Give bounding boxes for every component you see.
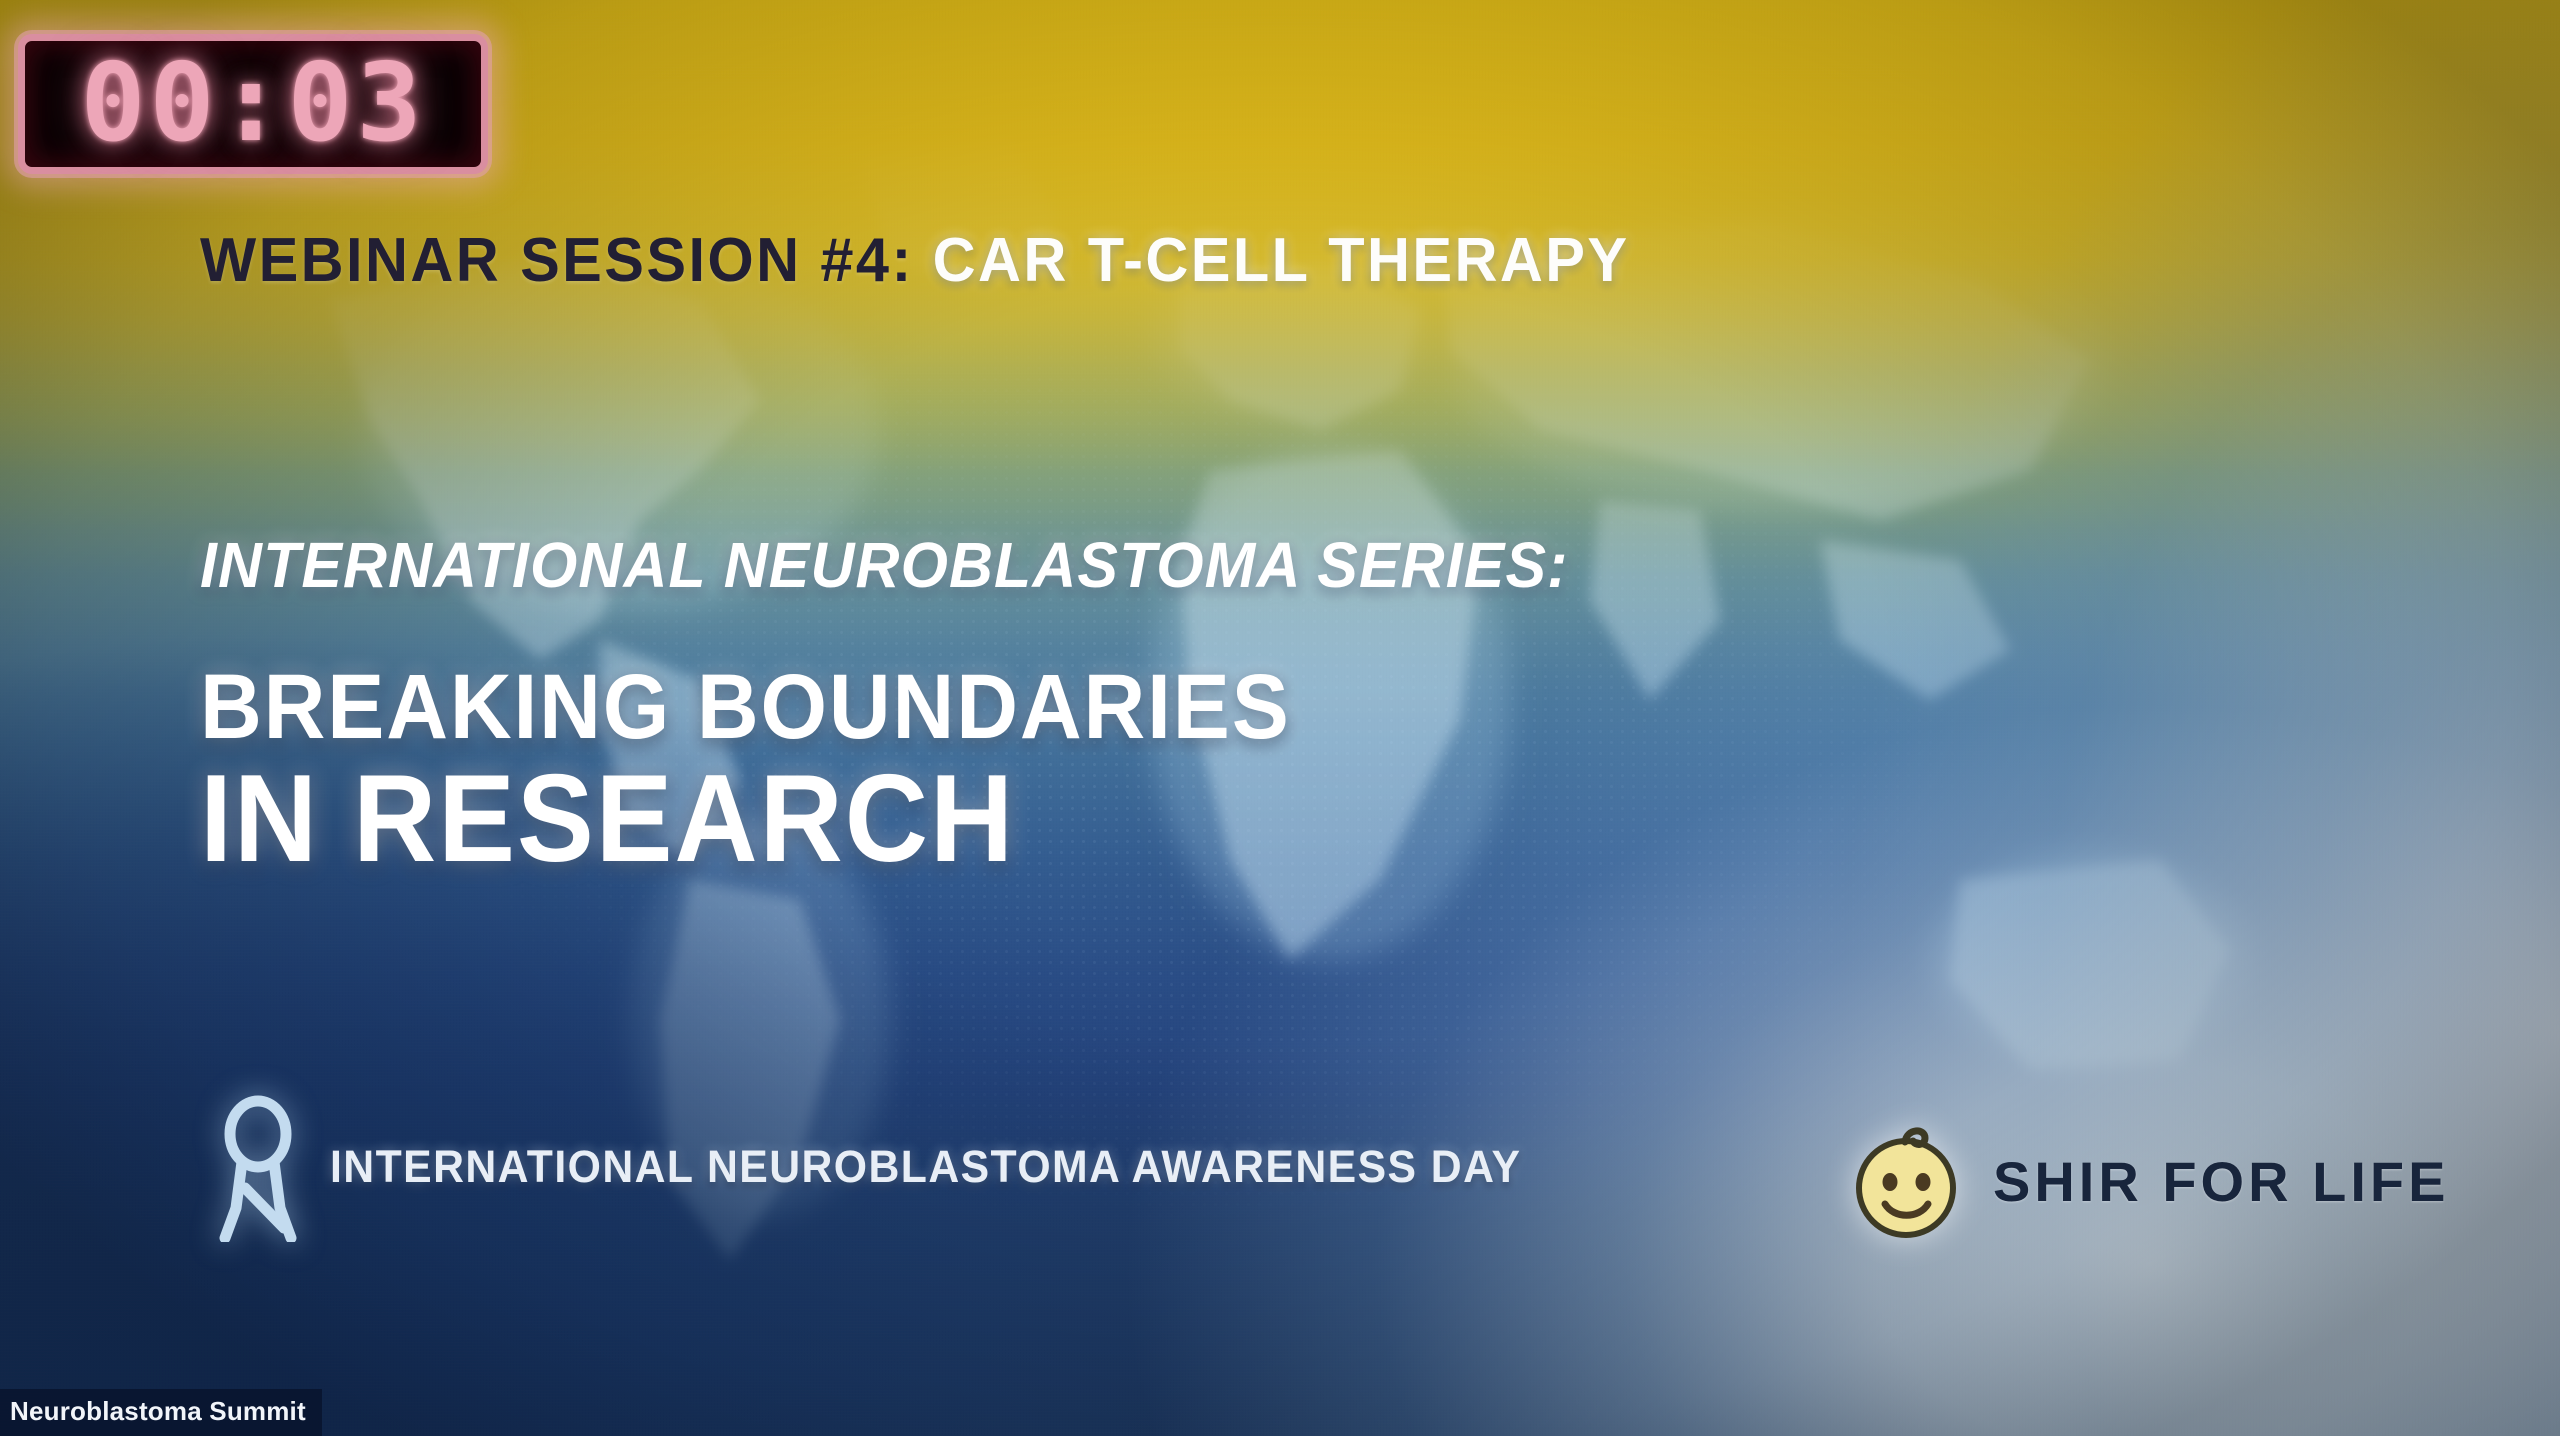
awareness-ribbon-icon — [212, 1092, 304, 1242]
awareness-day-label: INTERNATIONAL NEUROBLASTOMA AWARENESS DA… — [330, 1141, 1521, 1193]
headline-line-two: IN RESEARCH — [200, 748, 1015, 890]
baby-smiley-face-icon — [1845, 1118, 1967, 1244]
series-title: INTERNATIONAL NEUROBLASTOMA SERIES: — [200, 528, 1569, 602]
awareness-day-logo: INTERNATIONAL NEUROBLASTOMA AWARENESS DA… — [212, 1092, 1584, 1242]
session-prefix: WEBINAR SESSION #4: — [200, 226, 914, 295]
countdown-timer[interactable]: 00:03 — [18, 34, 488, 174]
session-topic: CAR T-CELL THERAPY — [933, 226, 1630, 295]
participant-name-tag: Neuroblastoma Summit — [0, 1389, 322, 1436]
headline-line-one: BREAKING BOUNDARIES — [200, 655, 1291, 760]
timer-value: 00:03 — [80, 50, 425, 158]
session-line: WEBINAR SESSION #4: CAR T-CELL THERAPY — [200, 230, 1629, 292]
shir-for-life-label: SHIR FOR LIFE — [1993, 1149, 2449, 1214]
webinar-slide-stage: 00:03 WEBINAR SESSION #4: CAR T-CELL THE… — [0, 0, 2560, 1436]
shir-for-life-logo: SHIR FOR LIFE — [1845, 1118, 2449, 1244]
